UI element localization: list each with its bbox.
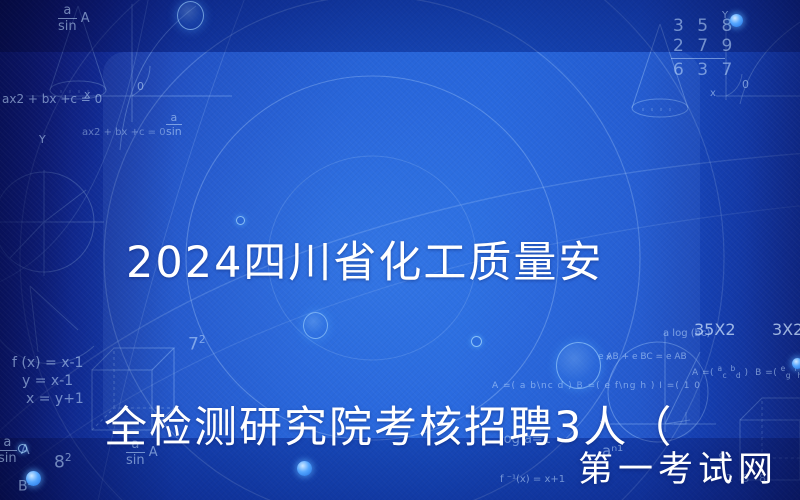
label-matrix-3x2: 3X2	[772, 320, 800, 340]
axis-label-x-top-right: x	[710, 88, 716, 101]
axis-label-x-top-left: x	[84, 88, 91, 102]
arithmetic-difference: 6 3 7	[673, 60, 736, 81]
headline-line-1: 2024四川省化工质量安	[126, 236, 726, 291]
angle-label-theta-top-right: 0	[742, 78, 749, 92]
glow-dot-far-right	[792, 358, 800, 369]
axis-label-y-top-right: Y	[722, 10, 728, 23]
arithmetic-subtrahend: 2 7 9	[673, 36, 736, 57]
formula-eight-squared: 82	[54, 452, 72, 474]
glow-dot-top-right	[730, 14, 743, 27]
banner-image: asin A ax2 + bx +c = 0 ax2 + bx +c = 0 a…	[0, 0, 800, 500]
formula-fx-bottom-left: f (x) = x-1	[12, 355, 83, 373]
glow-dot-bottom-left-small	[18, 444, 27, 453]
axis-label-y-left: Y	[39, 133, 46, 147]
formula-law-of-sines-top-left: asin A	[58, 4, 90, 33]
glow-dot-bottom-left	[26, 471, 41, 486]
glow-dot-top-left	[177, 1, 204, 30]
formula-y-bottom-left: y = x-1	[22, 373, 73, 391]
angle-label-theta-top-left: 0	[137, 80, 144, 94]
arithmetic-rule	[671, 58, 725, 59]
site-watermark: 第一考试网	[578, 441, 778, 492]
formula-x-bottom-left: x = y+1	[26, 391, 84, 409]
